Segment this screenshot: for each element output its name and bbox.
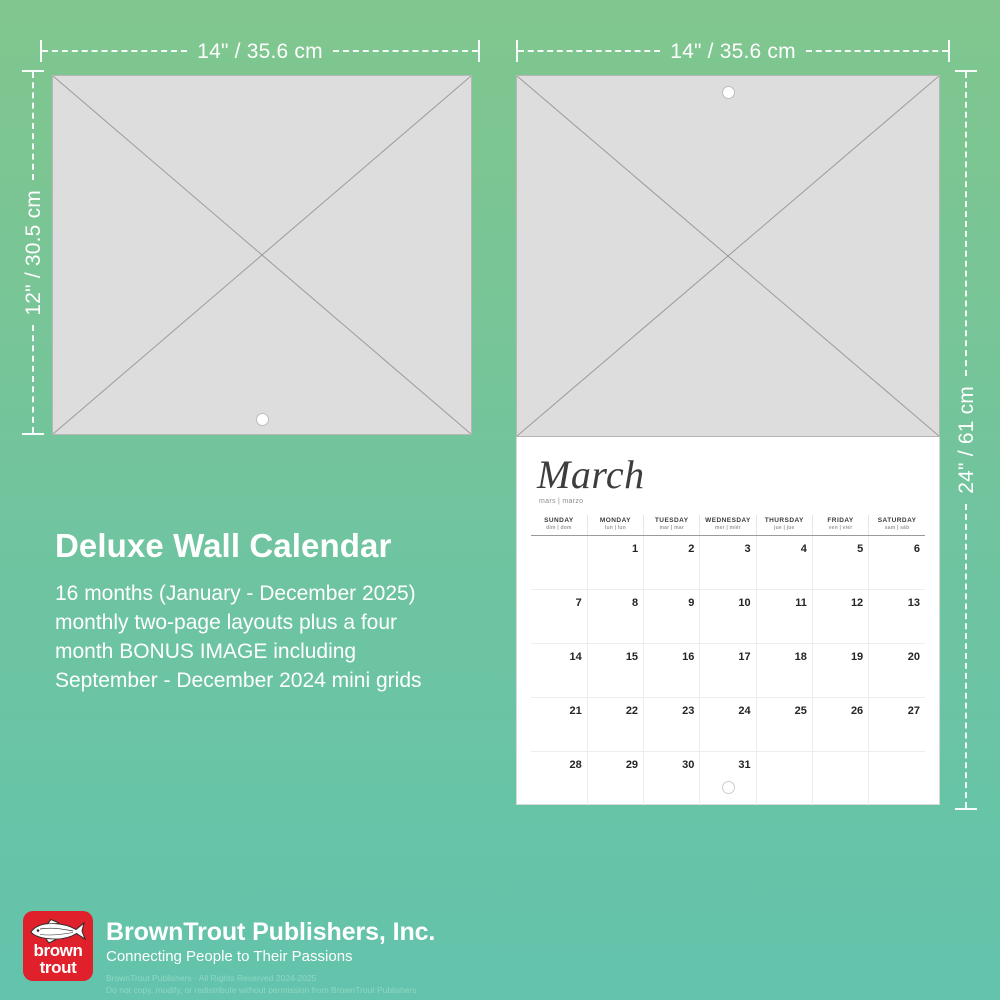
hanging-hole-icon [722, 781, 735, 794]
company-name: BrownTrout Publishers, Inc. [106, 919, 435, 945]
calendar-day-cell: 26 [812, 697, 868, 751]
calendar-day-cell: 19 [812, 643, 868, 697]
calendar-day-cell: 31 [700, 751, 756, 805]
company-tagline: Connecting People to Their Passions [106, 948, 435, 967]
date-number: 28 [570, 759, 582, 771]
calendar-top-page-image-placeholder [516, 75, 940, 437]
date-number: 15 [626, 651, 638, 663]
date-number: 13 [908, 597, 920, 609]
date-number: 14 [570, 651, 582, 663]
dimension-cap-end [948, 40, 950, 62]
dimension-cap-bottom [955, 808, 977, 810]
day-header-sub: sam | sáb [869, 525, 925, 532]
dimension-dash-top [32, 72, 34, 180]
day-header-sub: lun | lun [588, 525, 643, 532]
calendar-cover-image-placeholder [52, 75, 472, 435]
calendar-week-row: 1 2 3 4 5 6 [531, 535, 925, 589]
day-header-name: THURSDAY [757, 517, 812, 525]
date-number: 29 [626, 759, 638, 771]
calendar-day-cell: 7 [531, 589, 587, 643]
footer: brown trout BrownTrout Publishers, Inc. … [23, 911, 435, 996]
date-number: 8 [632, 597, 638, 609]
dimension-right-vertical: 24" / 61 cm [955, 70, 977, 810]
calendar-day-cell: 13 [869, 589, 925, 643]
calendar-day-cell: 17 [700, 643, 756, 697]
date-number: 2 [688, 543, 694, 555]
date-number: 6 [914, 543, 920, 555]
calendar-day-header: FRIDAY ven | vier [812, 515, 868, 535]
calendar-day-header: SUNDAY dim | dom [531, 515, 587, 535]
calendar-day-cell: 8 [587, 589, 643, 643]
calendar-header-row: SUNDAY dim | dom MONDAY lun | lun TUESDA… [531, 515, 925, 535]
day-header-sub: mar | mar [644, 525, 699, 532]
dimension-dash-right [333, 50, 478, 52]
date-number: 31 [738, 759, 750, 771]
day-header-sub: jue | jue [757, 525, 812, 532]
dimension-top-left: 14" / 35.6 cm [40, 40, 480, 62]
calendar-day-header: TUESDAY mar | mar [644, 515, 700, 535]
calendar-day-cell: 4 [756, 535, 812, 589]
date-number: 17 [738, 651, 750, 663]
date-number: 24 [738, 705, 750, 717]
date-number: 16 [682, 651, 694, 663]
dimension-label-top-left: 14" / 35.6 cm [187, 41, 333, 62]
calendar-week-row: 14 15 16 17 18 19 20 [531, 643, 925, 697]
legal-line: Do not copy, modify, or redistribute wit… [106, 985, 435, 997]
calendar-day-cell: 20 [869, 643, 925, 697]
calendar-day-header: WEDNESDAY mer | miér [700, 515, 756, 535]
calendar-day-cell: 9 [644, 589, 700, 643]
date-number: 18 [795, 651, 807, 663]
dimension-cap-end [478, 40, 480, 62]
dimension-dash-left [518, 50, 660, 52]
dimension-dash-right [806, 50, 948, 52]
dimension-cap-bottom [22, 433, 44, 435]
calendar-day-cell: 21 [531, 697, 587, 751]
calendar-day-cell: 30 [644, 751, 700, 805]
calendar-month-title: March [537, 455, 925, 495]
calendar-day-cell: 23 [644, 697, 700, 751]
calendar-day-cell [531, 535, 587, 589]
date-number: 10 [738, 597, 750, 609]
description-line: monthly two-page layouts plus a four [55, 609, 515, 638]
calendar-day-header: SATURDAY sam | sáb [869, 515, 925, 535]
legal-notice: BrownTrout Publishers - All Rights Reser… [106, 973, 435, 996]
calendar-month-subtitle: mars | marzo [539, 498, 925, 505]
date-number: 12 [851, 597, 863, 609]
calendar-day-cell: 15 [587, 643, 643, 697]
date-number: 19 [851, 651, 863, 663]
calendar-day-cell: 1 [587, 535, 643, 589]
calendar-week-row: 21 22 23 24 25 26 27 [531, 697, 925, 751]
day-header-sub: mer | miér [700, 525, 755, 532]
date-number: 7 [576, 597, 582, 609]
dimension-dash-left [42, 50, 187, 52]
hanging-hole-icon [256, 413, 269, 426]
day-header-sub: dim | dom [531, 525, 587, 532]
date-number: 26 [851, 705, 863, 717]
calendar-day-cell: 12 [812, 589, 868, 643]
calendar-day-cell: 24 [700, 697, 756, 751]
calendar-day-cell: 6 [869, 535, 925, 589]
calendar-day-cell: 11 [756, 589, 812, 643]
calendar-day-cell: 28 [531, 751, 587, 805]
calendar-day-cell [812, 751, 868, 805]
hanging-hole-icon [722, 86, 735, 99]
legal-line: BrownTrout Publishers - All Rights Reser… [106, 973, 435, 985]
calendar-day-cell: 29 [587, 751, 643, 805]
product-promo-graphic: 14" / 35.6 cm 14" / 35.6 cm 12" / 30.5 c… [0, 0, 1000, 1000]
calendar-day-cell: 2 [644, 535, 700, 589]
browntrout-logo: brown trout [23, 911, 93, 981]
calendar-week-row: 7 8 9 10 11 12 13 [531, 589, 925, 643]
calendar-day-cell: 16 [644, 643, 700, 697]
date-number: 9 [688, 597, 694, 609]
dimension-label-left: 12" / 30.5 cm [23, 180, 44, 326]
date-number: 3 [745, 543, 751, 555]
image-placeholder-cross-icon [53, 76, 471, 434]
date-number: 27 [908, 705, 920, 717]
date-number: 5 [857, 543, 863, 555]
calendar-day-cell: 27 [869, 697, 925, 751]
day-header-name: MONDAY [588, 517, 643, 525]
calendar-day-cell: 22 [587, 697, 643, 751]
product-description: 16 months (January - December 2025) mont… [55, 580, 515, 695]
date-number: 23 [682, 705, 694, 717]
description-line: September - December 2024 mini grids [55, 667, 515, 696]
dimension-left-vertical: 12" / 30.5 cm [22, 70, 44, 435]
day-header-name: TUESDAY [644, 517, 699, 525]
calendar-day-cell: 25 [756, 697, 812, 751]
calendar-day-header: THURSDAY jue | jue [756, 515, 812, 535]
calendar-grid-page: March mars | marzo SUNDAY dim | dom MOND… [516, 437, 940, 805]
date-number: 30 [682, 759, 694, 771]
footer-text-block: BrownTrout Publishers, Inc. Connecting P… [106, 911, 435, 996]
calendar-day-cell: 10 [700, 589, 756, 643]
dimension-dash-bottom [32, 325, 34, 433]
calendar-day-cell [869, 751, 925, 805]
image-placeholder-cross-icon [517, 76, 939, 436]
calendar-day-cell: 14 [531, 643, 587, 697]
dimension-dash-top [965, 72, 967, 376]
date-number: 25 [795, 705, 807, 717]
date-number: 21 [570, 705, 582, 717]
calendar-day-cell: 3 [700, 535, 756, 589]
day-header-sub: ven | vier [813, 525, 868, 532]
day-header-name: WEDNESDAY [700, 517, 755, 525]
date-number: 4 [801, 543, 807, 555]
calendar-week-row: 28 29 30 31 [531, 751, 925, 805]
description-line: month BONUS IMAGE including [55, 638, 515, 667]
day-header-name: FRIDAY [813, 517, 868, 525]
day-header-name: SUNDAY [531, 517, 587, 525]
date-number: 11 [795, 597, 807, 609]
product-title: Deluxe Wall Calendar [55, 528, 515, 564]
calendar-month-table: SUNDAY dim | dom MONDAY lun | lun TUESDA… [531, 515, 925, 805]
marketing-copy-block: Deluxe Wall Calendar 16 months (January … [55, 528, 515, 695]
logo-wordmark: brown trout [23, 943, 93, 977]
dimension-label-right: 24" / 61 cm [956, 376, 977, 504]
dimension-label-top-right: 14" / 35.6 cm [660, 41, 806, 62]
dimension-dash-bottom [965, 504, 967, 808]
calendar-day-cell: 5 [812, 535, 868, 589]
date-number: 1 [632, 543, 638, 555]
dimension-top-right: 14" / 35.6 cm [516, 40, 950, 62]
logo-word-trout: trout [23, 960, 93, 977]
calendar-day-cell [756, 751, 812, 805]
day-header-name: SATURDAY [869, 517, 925, 525]
date-number: 20 [908, 651, 920, 663]
date-number: 22 [626, 705, 638, 717]
calendar-day-cell: 18 [756, 643, 812, 697]
description-line: 16 months (January - December 2025) [55, 580, 515, 609]
calendar-day-header: MONDAY lun | lun [587, 515, 643, 535]
